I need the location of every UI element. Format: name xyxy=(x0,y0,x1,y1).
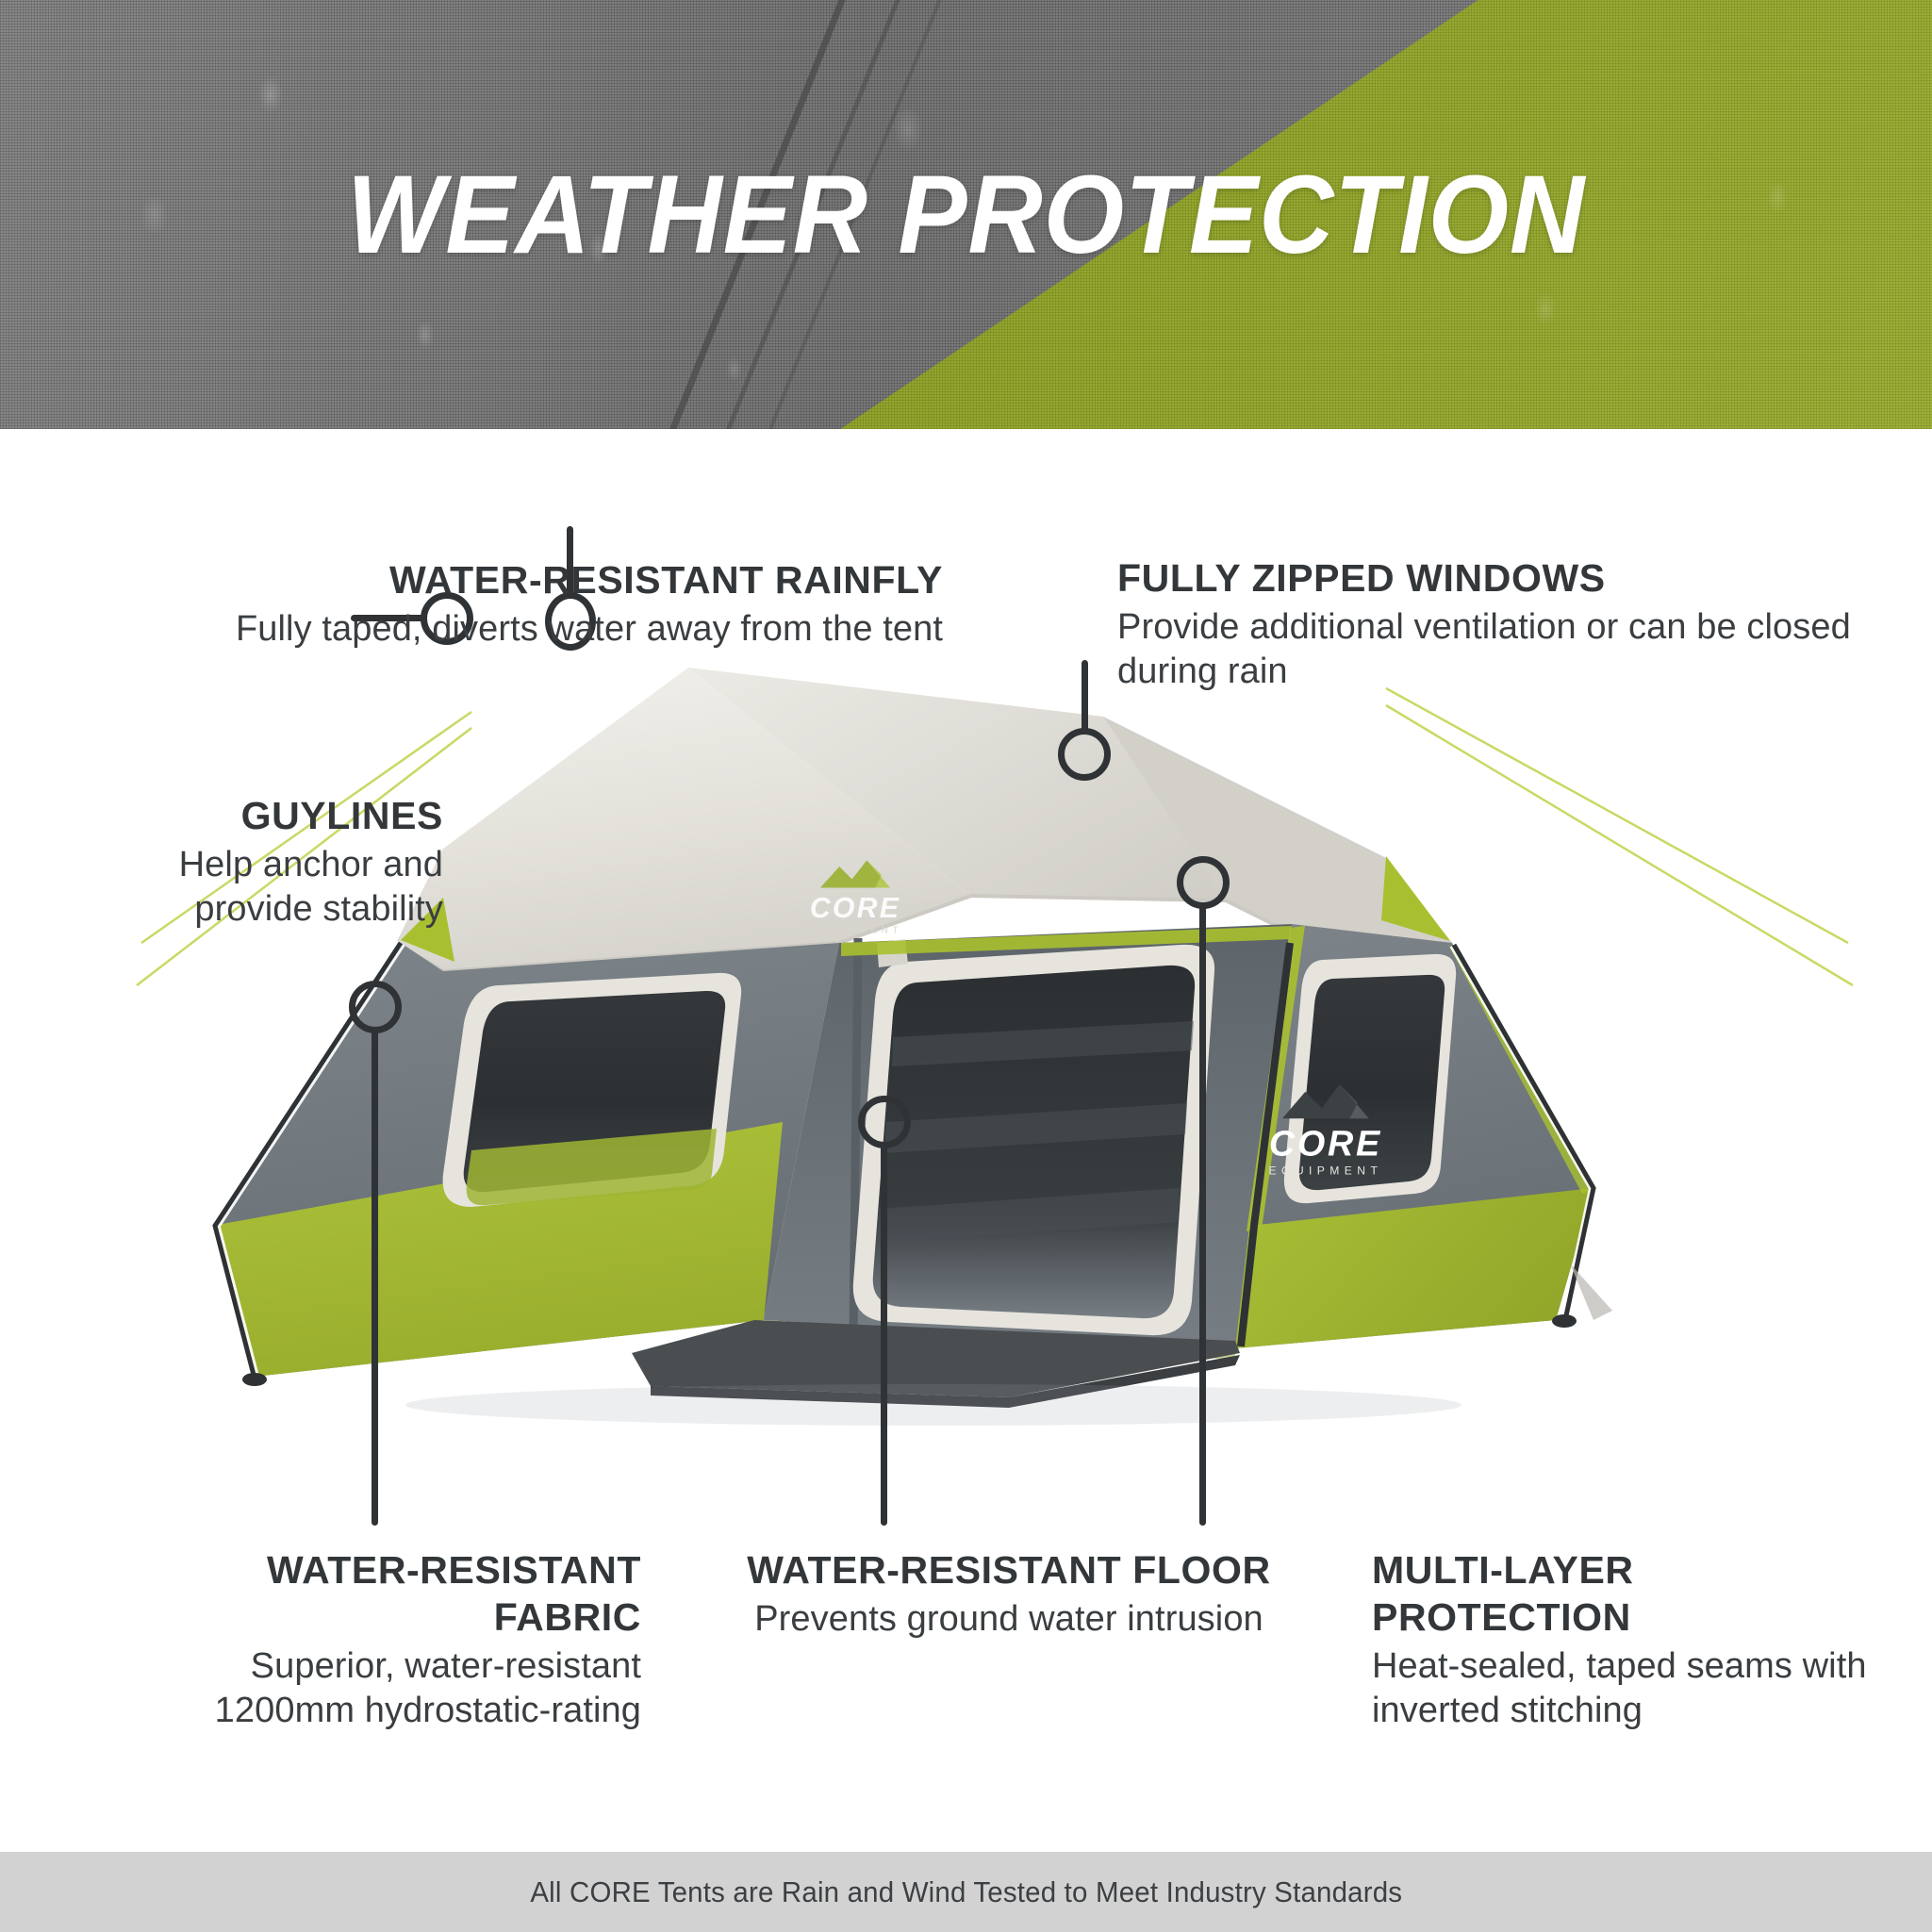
header-banner: WEATHER PROTECTION xyxy=(0,0,1932,429)
svg-text:EQUIPMENT: EQUIPMENT xyxy=(808,926,902,936)
svg-text:CORE: CORE xyxy=(1269,1124,1382,1164)
callout-fully-zipped-windows: FULLY ZIPPED WINDOWS Provide additional … xyxy=(1117,554,1872,694)
callout-description: Fully taped, diverts water away from the… xyxy=(132,607,943,652)
svg-text:CORE: CORE xyxy=(810,893,900,924)
tent-illustration: CORE EQUIPMENT xyxy=(160,660,1820,1509)
callout-stem-fabric xyxy=(372,1028,378,1526)
callout-water-resistant-floor: WATER-RESISTANT FLOOR Prevents ground wa… xyxy=(698,1546,1320,1642)
callout-description: Provide additional ventilation or can be… xyxy=(1117,605,1872,694)
callout-guylines: GUYLINES Help anchor and provide stabili… xyxy=(113,792,443,932)
callout-ring-windows xyxy=(1058,728,1111,781)
callout-description: Heat-sealed, taped seams with inverted s… xyxy=(1372,1644,1881,1733)
callout-description: Superior, water-resistant 1200mm hydrost… xyxy=(113,1644,641,1733)
callout-title: MULTI-LAYER PROTECTION xyxy=(1372,1546,1881,1641)
callout-stem-windows xyxy=(1082,660,1088,734)
callout-description: Help anchor and provide stability xyxy=(113,843,443,932)
callout-description: Prevents ground water intrusion xyxy=(698,1597,1320,1642)
page-title: WEATHER PROTECTION xyxy=(68,0,1865,429)
footer-bar: All CORE Tents are Rain and Wind Tested … xyxy=(0,1852,1932,1932)
footer-text: All CORE Tents are Rain and Wind Tested … xyxy=(530,1875,1402,1909)
callout-water-resistant-fabric: WATER-RESISTANT FABRIC Superior, water-r… xyxy=(113,1546,641,1733)
callout-ring-fabric xyxy=(349,981,402,1033)
callout-title: WATER-RESISTANT FLOOR xyxy=(698,1546,1320,1593)
callout-ring-multilayer xyxy=(1177,856,1230,909)
tent-front-wall xyxy=(764,924,1292,1360)
callout-stem-multilayer xyxy=(1199,903,1206,1526)
callout-ring-floor xyxy=(858,1096,911,1148)
callout-water-resistant-rainfly: WATER-RESISTANT RAINFLY Fully taped, div… xyxy=(132,556,943,652)
callout-title: WATER-RESISTANT RAINFLY xyxy=(132,556,943,603)
callout-title: WATER-RESISTANT FABRIC xyxy=(113,1546,641,1641)
callout-multi-layer-protection: MULTI-LAYER PROTECTION Heat-sealed, tape… xyxy=(1372,1546,1881,1733)
callout-title: FULLY ZIPPED WINDOWS xyxy=(1117,554,1872,602)
svg-text:EQUIPMENT: EQUIPMENT xyxy=(1269,1164,1383,1178)
tent-left-wall xyxy=(212,943,839,1386)
callout-title: GUYLINES xyxy=(113,792,443,839)
callout-stem-floor xyxy=(881,1143,887,1526)
